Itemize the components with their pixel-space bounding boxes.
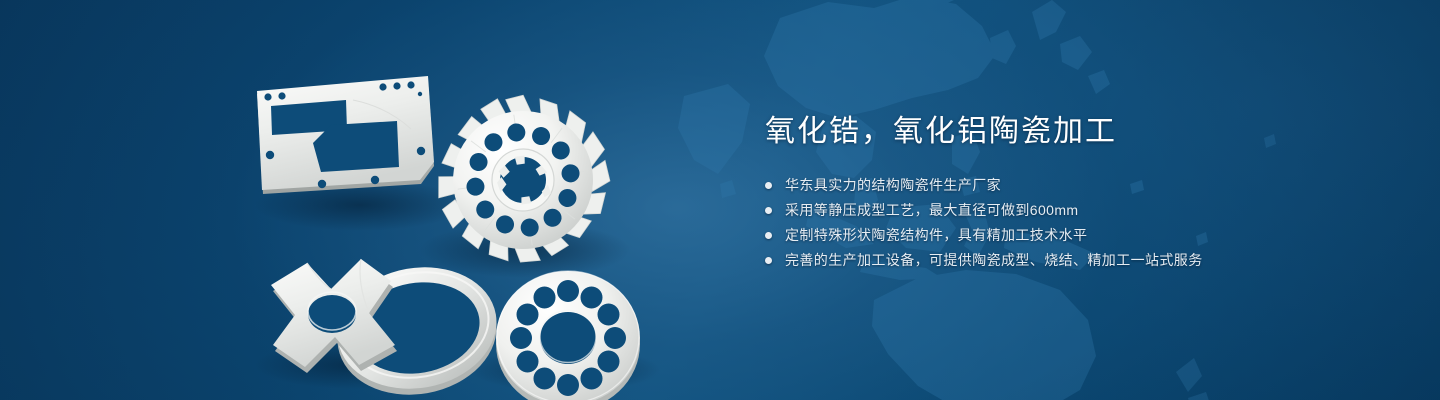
bullet-dot-icon xyxy=(765,182,772,189)
ceramic-perforated-disc xyxy=(496,271,640,400)
list-item: 完善的生产加工设备，可提供陶瓷成型、烧结、精加工一站式服务 xyxy=(765,249,1385,271)
bullet-dot-icon xyxy=(765,207,772,214)
feature-text: 完善的生产加工设备，可提供陶瓷成型、烧结、精加工一站式服务 xyxy=(785,249,1203,271)
ceramic-machined-plate xyxy=(257,76,434,194)
list-item: 华东具实力的结构陶瓷件生产厂家 xyxy=(765,174,1385,196)
promo-banner: 氧化锆，氧化铝陶瓷加工 华东具实力的结构陶瓷件生产厂家 采用等静压成型工艺，最大… xyxy=(0,0,1440,400)
bullet-dot-icon xyxy=(765,257,772,264)
bullet-dot-icon xyxy=(765,232,772,239)
list-item: 采用等静压成型工艺，最大直径可做到600mm xyxy=(765,199,1385,221)
ceramic-products-photo xyxy=(235,45,715,385)
feature-list: 华东具实力的结构陶瓷件生产厂家 采用等静压成型工艺，最大直径可做到600mm 定… xyxy=(765,174,1385,271)
feature-text: 采用等静压成型工艺，最大直径可做到600mm xyxy=(785,199,1078,221)
feature-text: 华东具实力的结构陶瓷件生产厂家 xyxy=(785,174,1001,196)
feature-text: 定制特殊形状陶瓷结构件，具有精加工技术水平 xyxy=(785,224,1087,246)
page-title: 氧化锆，氧化铝陶瓷加工 xyxy=(765,112,1385,152)
list-item: 定制特殊形状陶瓷结构件，具有精加工技术水平 xyxy=(765,224,1385,246)
banner-copy: 氧化锆，氧化铝陶瓷加工 华东具实力的结构陶瓷件生产厂家 采用等静压成型工艺，最大… xyxy=(765,112,1385,274)
